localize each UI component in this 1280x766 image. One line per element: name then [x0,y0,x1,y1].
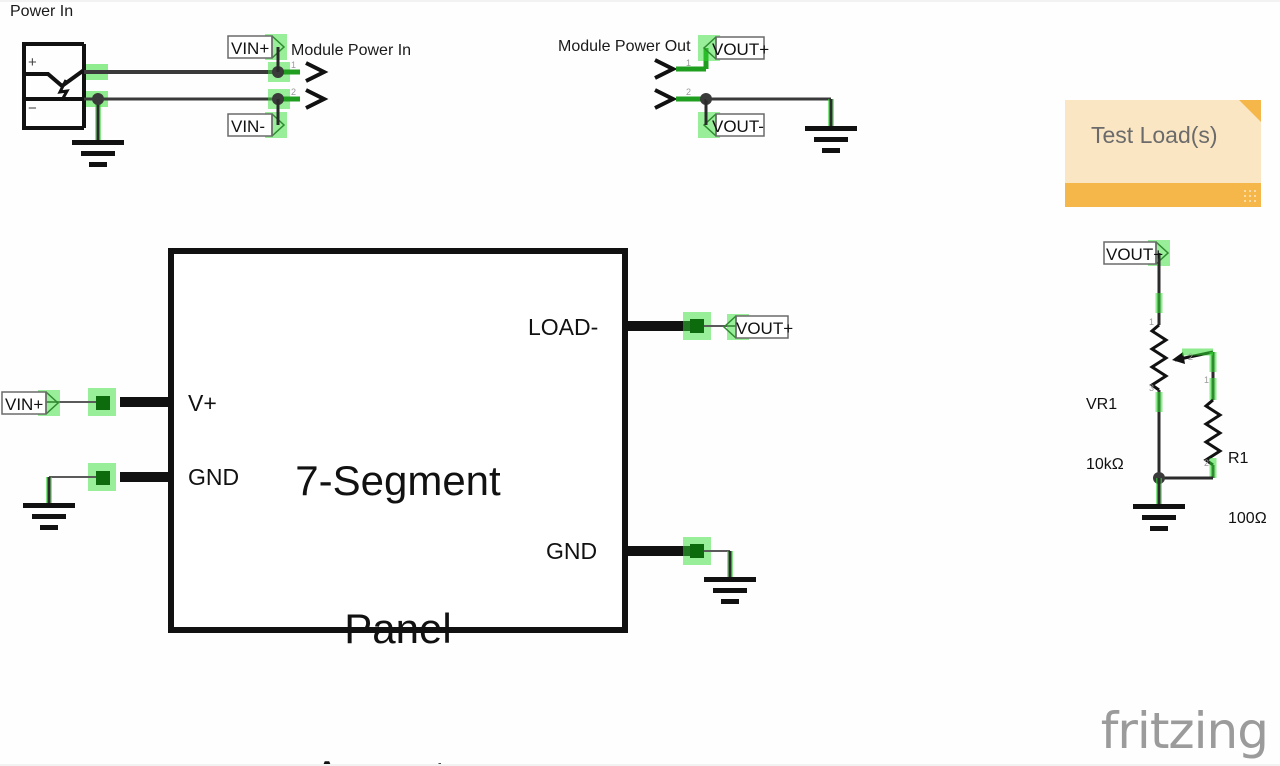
component-label-vr1: VR1 10kΩ [1086,355,1124,515]
net-label-vin-minus-source[interactable]: VIN- [231,118,265,135]
ground-symbol-meter-right[interactable] [704,577,756,604]
r1-value: 100Ω [1228,509,1267,529]
ammeter-pin-label-load-minus: LOAD- [528,314,598,341]
pin-number-r1-2: 2 [1204,458,1209,468]
component-r1-resistor[interactable] [1206,400,1220,465]
r1-designator: R1 [1228,449,1267,469]
net-label-vin-plus-meter[interactable]: VIN+ [5,396,43,413]
ground-symbol-meter-left[interactable] [23,503,75,530]
label-power-in: Power In [10,3,73,21]
pin-number-power-out-2: 2 [686,87,691,97]
net-label-vin-plus-source[interactable]: VIN+ [231,40,269,57]
pin-number-power-in-1: 1 [291,60,296,70]
net-label-vout-plus-meter[interactable]: VOUT+ [736,320,793,337]
ammeter-title-line-2: Panel [210,604,586,653]
net-label-vout-plus-source[interactable]: VOUT+ [712,41,769,58]
power-source-minus-mark: − [28,100,37,117]
connector-terminal-power-in-2[interactable] [306,90,324,108]
vr1-value: 10kΩ [1086,455,1124,475]
label-module-power-out: Module Power Out [558,38,691,56]
pin-number-vr1-3: 3 [1149,383,1154,393]
junction-dot [92,93,104,105]
net-label-vout-minus-source[interactable]: VOUT- [712,118,764,135]
connector-terminal-power-out-1[interactable] [655,60,673,78]
note-test-loads[interactable]: Test Load(s) [1065,100,1261,207]
ammeter-title-line-3: Ammeter [210,751,586,766]
component-label-r1: R1 100Ω [1228,409,1267,569]
ground-symbol-load[interactable] [1133,504,1185,531]
pin-number-power-out-1: 1 [686,58,691,68]
ammeter-title-line-1: 7-Segment [210,456,586,505]
note-footer-bar [1065,183,1261,207]
label-module-power-in: Module Power In [291,42,411,60]
schematic-canvas[interactable]: Power In Module Power In Module Power Ou… [0,0,1280,766]
connector-terminal-power-in-1[interactable] [306,63,324,81]
note-text: Test Load(s) [1091,122,1218,149]
pin-number-vr1-2: 2 [1188,352,1193,362]
note-fold-corner-icon [1239,100,1261,122]
fritzing-watermark-logo: fritzing [1101,702,1268,760]
ammeter-block-title: 7-Segment Panel Ammeter [210,358,586,766]
power-source-plus-mark: + [28,54,37,71]
pin-number-vr1-1: 1 [1149,317,1154,327]
connector-terminal-power-out-2[interactable] [655,90,673,108]
pin-number-r1-1: 1 [1204,375,1209,385]
vr1-designator: VR1 [1086,395,1124,415]
note-resize-grip-icon[interactable] [1244,190,1256,202]
net-label-vout-plus-load[interactable]: VOUT+ [1106,246,1163,263]
ground-symbol-power-out[interactable] [805,126,857,153]
pin-number-power-in-2: 2 [291,87,296,97]
ground-symbol-source[interactable] [72,140,124,167]
